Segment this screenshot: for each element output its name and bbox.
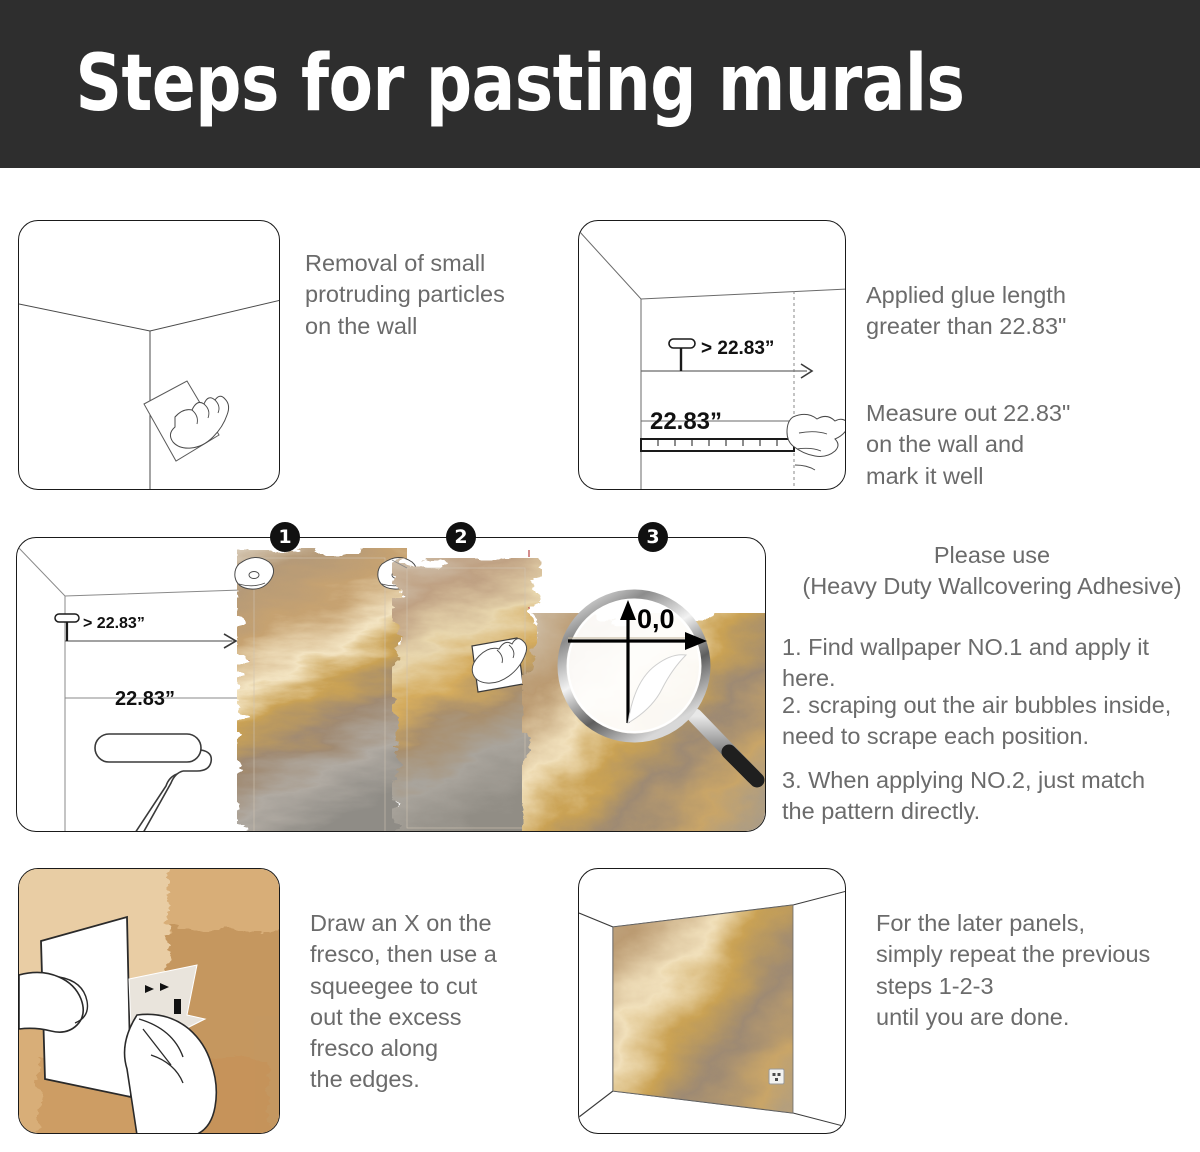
- panel-scrape-wall: [18, 220, 280, 490]
- panel-measure-wall: > 22.83” 22.83”: [578, 220, 846, 490]
- ruler-length-label: 22.83”: [650, 408, 722, 435]
- apply-panels-illustration: > 22.83” 22.83”: [17, 538, 766, 832]
- caption-scrape: Removal of small protruding particles on…: [305, 248, 555, 342]
- page-header: Steps for pasting murals: [0, 0, 1200, 168]
- instruction-step-2: 2. scraping out the air bubbles inside, …: [782, 690, 1200, 753]
- mural-strip-2: [392, 558, 542, 832]
- finished-room-illustration: [579, 869, 846, 1134]
- wall-socket: [769, 1069, 784, 1084]
- measure-wall-illustration: > 22.83” 22.83”: [579, 221, 846, 490]
- instruction-step-3: 3. When applying NO.2, just match the pa…: [782, 765, 1200, 828]
- socket-hole-bottom: [174, 999, 181, 1014]
- instructions-heading: Please use (Heavy Duty Wallcovering Adhe…: [782, 540, 1200, 601]
- caption-cut-excess: Draw an X on the fresco, then use a sque…: [310, 908, 560, 1096]
- room-left-wall: [579, 913, 613, 1117]
- panel-finished-wall: [578, 868, 846, 1134]
- hand-marking: [787, 414, 846, 456]
- origin-label: 0,0: [637, 604, 675, 634]
- apply-roller-label: > 22.83”: [83, 615, 145, 632]
- page-title: Steps for pasting murals: [0, 39, 964, 129]
- caption-finished-wall: For the later panels, simply repeat the …: [876, 908, 1200, 1033]
- apply-ruler-label: 22.83”: [115, 688, 175, 710]
- ruler: [641, 439, 794, 451]
- caption-glue-length: Applied glue length greater than 22.83": [866, 280, 1186, 343]
- step-badge-3: 3: [638, 522, 668, 552]
- mural-strip-1: [237, 548, 407, 832]
- step-badge-2: 2: [446, 522, 476, 552]
- panel-apply-panels: > 22.83” 22.83”: [16, 537, 766, 832]
- paint-roller-tool: [95, 734, 211, 832]
- instruction-step-1: 1. Find wallpaper NO.1 and apply it here…: [782, 632, 1200, 695]
- cut-excess-illustration: [19, 869, 280, 1134]
- mural-back-wall: [589, 879, 829, 1134]
- roller-length-label: > 22.83”: [701, 338, 774, 359]
- panel-cut-excess: [18, 868, 280, 1134]
- glue-roller-icon: [669, 339, 695, 371]
- caption-measure-mark: Measure out 22.83" on the wall and mark …: [866, 398, 1186, 492]
- scrape-wall-illustration: [19, 221, 280, 490]
- apply-roller-icon: [55, 614, 79, 641]
- step-badge-1: 1: [270, 522, 300, 552]
